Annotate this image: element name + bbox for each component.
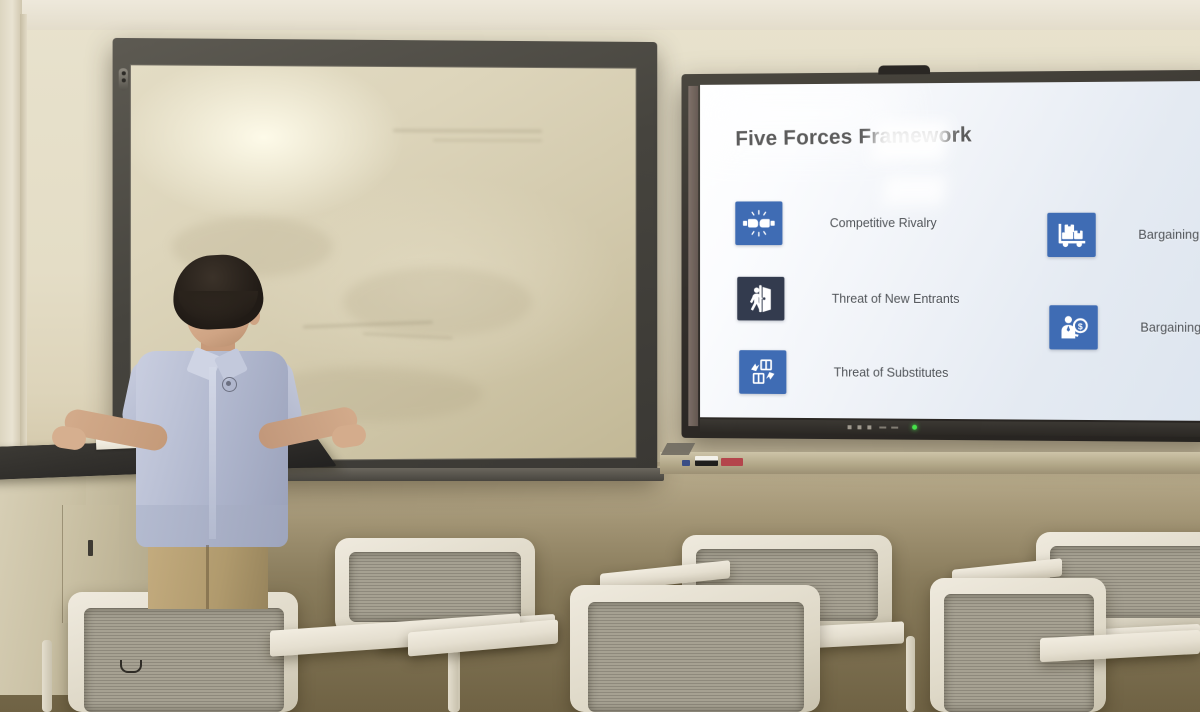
force-label: Bargaining: [1140, 321, 1200, 335]
podium-latch[interactable]: [88, 540, 93, 556]
blue-marker[interactable]: [682, 460, 690, 466]
wall-pillar-left: [0, 0, 22, 500]
person-through-door-icon: [737, 277, 784, 321]
screen-glare-patch: [881, 175, 946, 205]
force-label: Bargaining: [1138, 228, 1199, 242]
exchange-boxes-icon: [739, 350, 786, 394]
display-control-panel[interactable]: [700, 419, 1200, 437]
pallet-truck-icon: [1047, 213, 1095, 257]
desk-leg: [448, 648, 458, 712]
force-item-threat-of-new-entrants: Threat of New Entrants: [737, 277, 959, 321]
force-item-bargaining-power-suppliers: Bargaining: [1047, 213, 1199, 257]
shirt-logo-icon: [222, 377, 237, 392]
presenter-pants-seam: [206, 545, 209, 609]
wall-upper-band: [0, 0, 1200, 30]
force-item-competitive-rivalry: Competitive Rivalry: [735, 201, 936, 245]
buyer-money-icon: $: [1049, 305, 1097, 349]
whiteboard-sensor-icon: [119, 68, 128, 90]
cable-hook: [120, 660, 142, 673]
chair-leg: [42, 640, 52, 712]
wall-display[interactable]: Five Forces Framework: [682, 70, 1200, 442]
display-side-strip: [688, 86, 698, 426]
chair-leg: [906, 636, 915, 712]
classroom-photo: Five Forces Framework: [0, 0, 1200, 712]
force-label: Threat of Substitutes: [834, 365, 949, 380]
wall-pillar-edge: [20, 14, 27, 500]
display-camera-icon: [878, 65, 930, 74]
force-label: Threat of New Entrants: [832, 292, 960, 306]
presenter-shirt-placket: [209, 367, 216, 539]
svg-text:$: $: [1078, 321, 1083, 331]
display-screen: Five Forces Framework: [700, 81, 1200, 421]
boxing-gloves-icon: [735, 201, 782, 245]
force-label: Competitive Rivalry: [830, 216, 937, 230]
red-marker[interactable]: [721, 458, 743, 466]
screen-glare-patch: [871, 121, 950, 161]
whiteboard-eraser[interactable]: [695, 456, 718, 466]
force-item-bargaining-power-buyers: $ Bargaining: [1049, 305, 1200, 350]
force-item-threat-of-substitutes: Threat of Substitutes: [739, 350, 948, 395]
power-led-icon: [912, 425, 917, 430]
